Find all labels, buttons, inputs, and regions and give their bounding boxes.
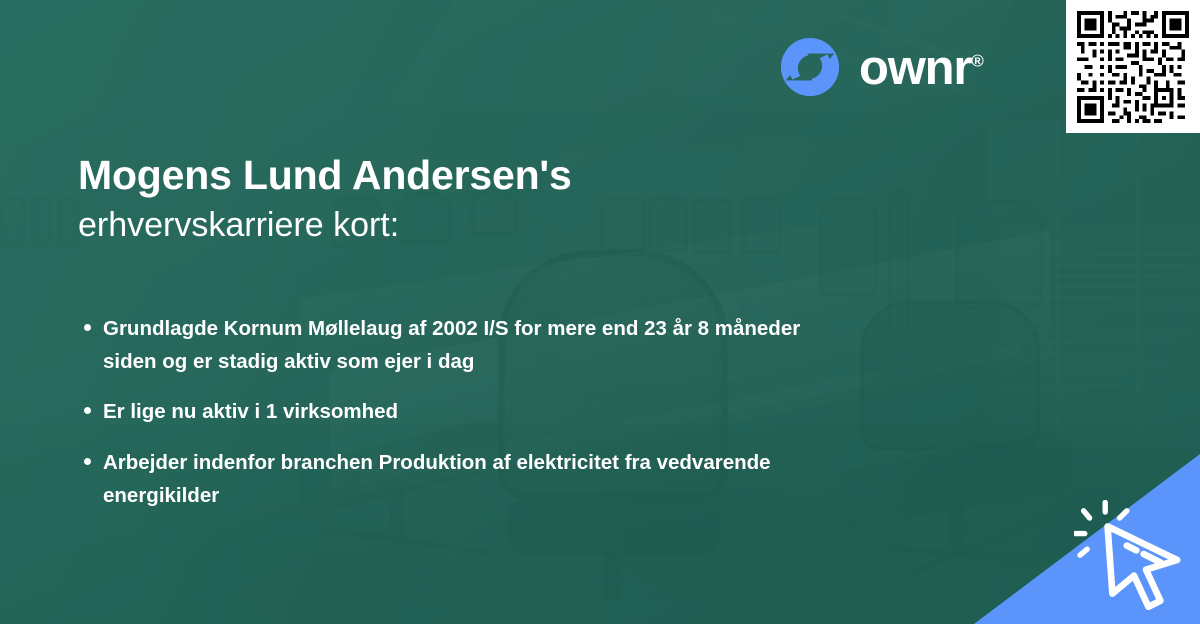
headline-line-1: Mogens Lund Andersen's — [78, 153, 838, 199]
bullet-dot-icon — [84, 324, 91, 331]
ownr-swirl-icon — [779, 36, 841, 98]
ownr-logo[interactable]: ownr® — [779, 36, 984, 98]
page-title: Mogens Lund Andersen's erhvervskarriere … — [78, 153, 838, 247]
list-item-text: Arbejder indenfor branchen Produktion af… — [103, 451, 771, 507]
list-item: Er lige nu aktiv i 1 virksomhed — [78, 395, 838, 428]
bullet-dot-icon — [84, 458, 91, 465]
ownr-wordmark: ownr® — [859, 44, 984, 93]
qr-code-icon — [1077, 11, 1189, 123]
business-career-card: ownr® — [0, 0, 1200, 624]
qr-code[interactable] — [1066, 0, 1200, 133]
bullet-dot-icon — [84, 407, 91, 414]
list-item: Arbejder indenfor branchen Produktion af… — [78, 446, 838, 512]
registered-trademark-symbol: ® — [971, 51, 984, 70]
corner-accent-triangle — [974, 454, 1200, 624]
click-cursor-icon — [1074, 500, 1194, 620]
list-item-text: Grundlagde Kornum Møllelaug af 2002 I/S … — [103, 317, 800, 373]
career-facts-list: Grundlagde Kornum Møllelaug af 2002 I/S … — [78, 312, 908, 512]
headline-line-2: erhvervskarriere kort: — [78, 203, 838, 247]
list-item-text: Er lige nu aktiv i 1 virksomhed — [103, 400, 398, 423]
list-item: Grundlagde Kornum Møllelaug af 2002 I/S … — [78, 312, 838, 378]
